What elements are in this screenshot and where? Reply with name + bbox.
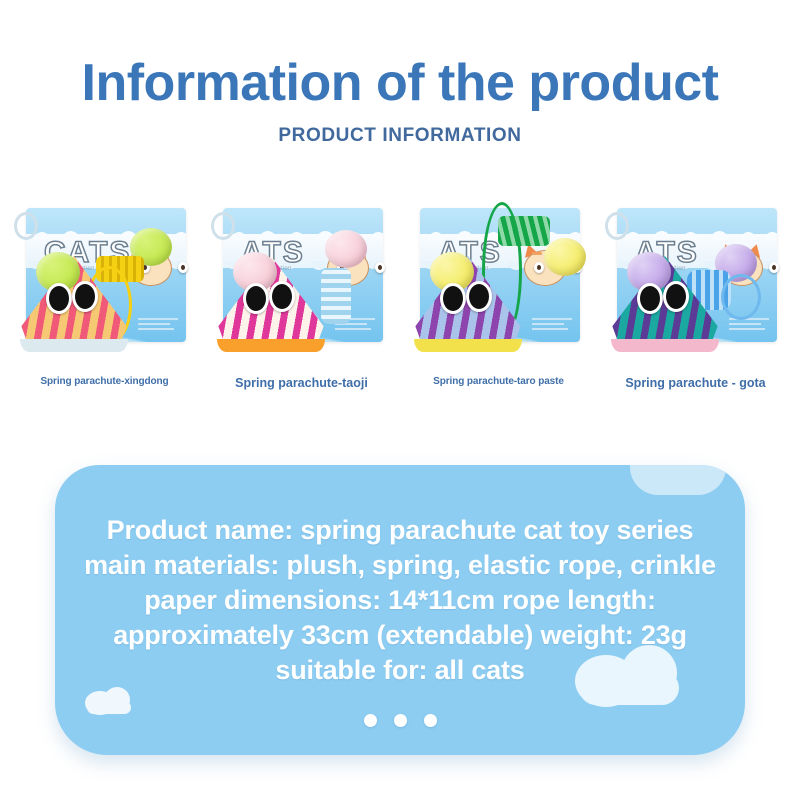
carousel-dot[interactable]: [424, 714, 437, 727]
toy-brim: [217, 339, 325, 352]
plush-toy: [609, 252, 721, 356]
toy-eye-left: [46, 283, 72, 314]
product-item[interactable]: ATS Toy collection: [402, 196, 595, 391]
toy-brim: [20, 339, 128, 352]
toy-eye-left: [637, 283, 663, 314]
carousel-dots[interactable]: [55, 714, 745, 727]
toy-eye-left: [243, 283, 269, 314]
toy-brim: [414, 339, 522, 352]
hang-loop: [605, 212, 629, 240]
product-item[interactable]: ATS Toy collection: [205, 196, 398, 391]
carousel-dot[interactable]: [394, 714, 407, 727]
product-photo[interactable]: ATS Toy collection: [406, 196, 591, 364]
plush-toy: [18, 252, 130, 356]
cloud-icon-small: [85, 687, 131, 713]
product-label: Spring parachute-taoji: [235, 376, 368, 391]
hang-loop: [14, 212, 38, 240]
toy-eye-left: [440, 283, 466, 314]
carousel-dot[interactable]: [364, 714, 377, 727]
card-fineprint: [138, 316, 178, 334]
plush-toy: [215, 252, 327, 356]
product-details-panel: Product name: spring parachute cat toy s…: [55, 465, 745, 755]
product-item[interactable]: ATS Toy collection: [599, 196, 792, 391]
product-gallery: CATS Toy collection: [0, 196, 800, 391]
product-label: Spring parachute-xingdong: [40, 376, 168, 388]
toy-eye-right: [72, 281, 98, 312]
product-label: Spring parachute - gota: [625, 376, 765, 391]
hang-loop: [211, 212, 235, 240]
product-photo[interactable]: ATS Toy collection: [603, 196, 788, 364]
pompom-side: [325, 230, 367, 268]
plush-toy: [412, 252, 524, 356]
product-label: Spring parachute-taro paste: [433, 376, 564, 388]
card-fineprint: [532, 316, 572, 334]
elastic-rope: [721, 274, 761, 320]
toy-eye-right: [663, 281, 689, 312]
product-item[interactable]: CATS Toy collection: [8, 196, 201, 391]
product-information-page: Information of the product PRODUCT INFOR…: [0, 0, 800, 800]
toy-brim: [611, 339, 719, 352]
product-photo[interactable]: CATS Toy collection: [12, 196, 197, 364]
toy-eye-right: [269, 281, 295, 312]
product-photo[interactable]: ATS Toy collection: [209, 196, 394, 364]
pompom-side: [544, 238, 586, 276]
page-header: Information of the product PRODUCT INFOR…: [0, 0, 800, 147]
page-title: Information of the product: [0, 56, 800, 111]
toy-eye-right: [466, 281, 492, 312]
product-description: Product name: spring parachute cat toy s…: [55, 465, 745, 688]
page-subtitle: PRODUCT INFORMATION: [0, 125, 800, 147]
